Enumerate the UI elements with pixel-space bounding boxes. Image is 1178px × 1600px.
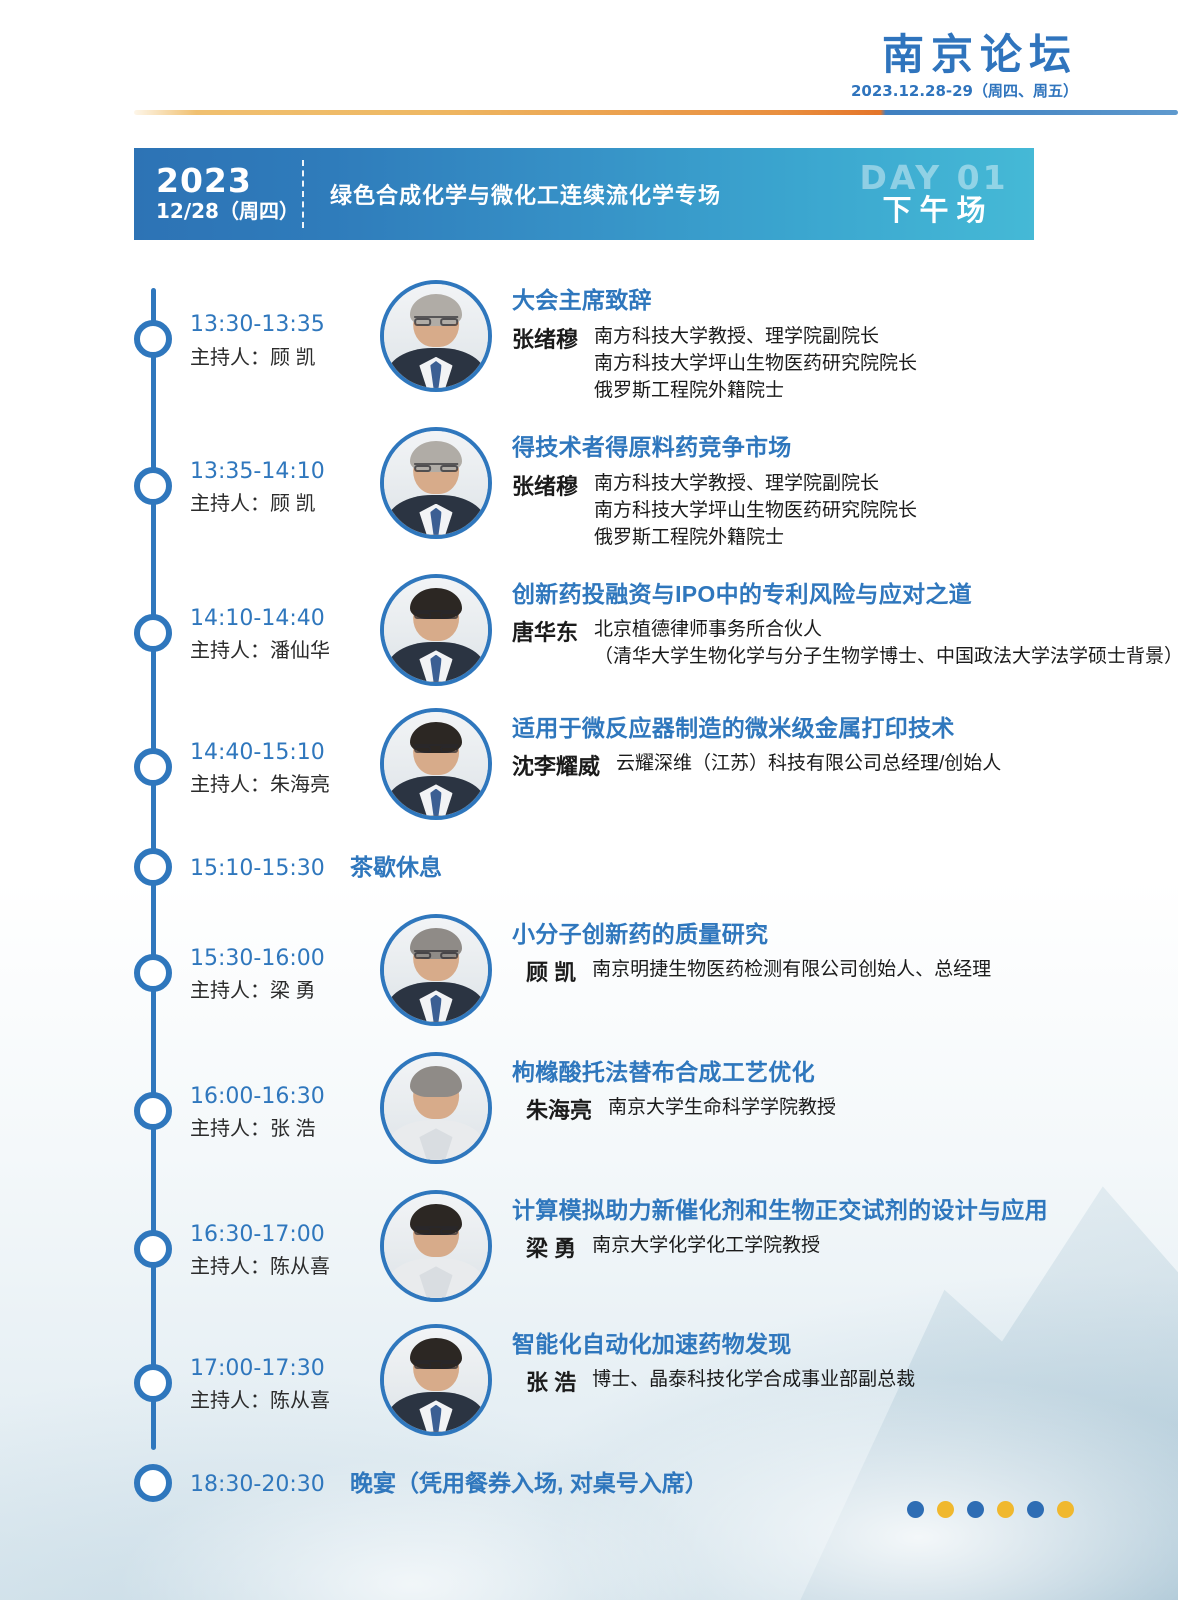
agenda-affiliations: 南方科技大学教授、理学院副院长南方科技大学坪山生物医药研究院院长俄罗斯工程院外籍… bbox=[594, 471, 1178, 552]
agenda-speaker-line: 唐华东北京植德律师事务所合伙人（清华大学生物化学与分子生物学博士、中国政法大学法… bbox=[512, 617, 1178, 671]
footer-dot bbox=[1057, 1501, 1074, 1518]
footer-dot bbox=[997, 1501, 1014, 1518]
timeline-marker bbox=[134, 954, 172, 992]
banner-date-block: 2023 12/28（周四） bbox=[134, 148, 302, 240]
agenda-affiliations: 南方科技大学教授、理学院副院长南方科技大学坪山生物医药研究院院长俄罗斯工程院外籍… bbox=[594, 324, 1178, 405]
brand-block: 南京论坛 2023.12.28-29（周四、周五） bbox=[851, 34, 1078, 99]
speaker-avatar bbox=[380, 574, 492, 686]
agenda-time-column: 13:30-13:35主持人：顾 凯 bbox=[190, 280, 380, 373]
agenda-row: 16:00-16:30主持人：张 浩枸橼酸托法替布合成工艺优化朱海亮南京大学生命… bbox=[0, 1052, 1178, 1164]
agenda-row: 15:30-16:00主持人：梁 勇小分子创新药的质量研究顾 凯南京明捷生物医药… bbox=[0, 914, 1178, 1026]
timeline-marker bbox=[134, 467, 172, 505]
agenda-affiliations: 南京大学化学化工学院教授 bbox=[592, 1233, 1178, 1260]
agenda-talk: 得技术者得原料药竞争市场张绪穆南方科技大学教授、理学院副院长南方科技大学坪山生物… bbox=[512, 427, 1178, 552]
agenda-talk-title: 枸橼酸托法替布合成工艺优化 bbox=[512, 1058, 1178, 1088]
header-rule bbox=[134, 110, 1178, 115]
agenda-speaker-name: 朱海亮 bbox=[512, 1095, 608, 1127]
agenda-row: 17:00-17:30主持人：陈从喜智能化自动化加速药物发现张 浩博士、晶泰科技… bbox=[0, 1324, 1178, 1436]
footer-dot bbox=[907, 1501, 924, 1518]
agenda-speaker-line: 朱海亮南京大学生命科学学院教授 bbox=[512, 1095, 1178, 1127]
agenda-time-column: 14:40-15:10主持人：朱海亮 bbox=[190, 708, 380, 801]
agenda-affiliation: 南方科技大学坪山生物医药研究院院长 bbox=[594, 498, 1178, 525]
agenda-affiliation: 北京植德律师事务所合伙人 bbox=[594, 617, 1178, 644]
agenda-row: 13:30-13:35主持人：顾 凯大会主席致辞张绪穆南方科技大学教授、理学院副… bbox=[0, 280, 1178, 405]
agenda-time: 14:10-14:40 bbox=[190, 604, 380, 634]
agenda-talk: 大会主席致辞张绪穆南方科技大学教授、理学院副院长南方科技大学坪山生物医药研究院院… bbox=[512, 280, 1178, 405]
agenda-time-column: 17:00-17:30主持人：陈从喜 bbox=[190, 1324, 380, 1417]
agenda-time: 14:40-15:10 bbox=[190, 738, 380, 768]
agenda-affiliations: 博士、晶泰科技化学合成事业部副总裁 bbox=[592, 1367, 1178, 1394]
avatar-glasses bbox=[414, 316, 458, 325]
avatar-glasses bbox=[414, 744, 458, 753]
agenda-talk-title: 适用于微反应器制造的微米级金属打印技术 bbox=[512, 714, 1178, 744]
speaker-avatar bbox=[380, 1052, 492, 1164]
agenda-host: 主持人：张 浩 bbox=[190, 1115, 380, 1144]
agenda-speaker-name: 顾 凯 bbox=[512, 957, 592, 989]
agenda-host: 主持人：潘仙华 bbox=[190, 637, 380, 666]
speaker-avatar bbox=[380, 1190, 492, 1302]
timeline-marker bbox=[134, 1364, 172, 1402]
agenda-speaker-name: 张绪穆 bbox=[512, 324, 594, 356]
agenda-time: 13:30-13:35 bbox=[190, 310, 380, 340]
agenda-talk-title: 小分子创新药的质量研究 bbox=[512, 920, 1178, 950]
agenda-host: 主持人：陈从喜 bbox=[190, 1387, 380, 1416]
agenda-simple-title: 茶歇休息 bbox=[350, 853, 442, 883]
agenda-talk-title: 大会主席致辞 bbox=[512, 286, 1178, 316]
agenda-affiliation: 南方科技大学坪山生物医药研究院院长 bbox=[594, 351, 1178, 378]
agenda-time: 16:30-17:00 bbox=[190, 1220, 380, 1250]
agenda-list: 13:30-13:35主持人：顾 凯大会主席致辞张绪穆南方科技大学教授、理学院副… bbox=[0, 280, 1178, 1506]
timeline-marker bbox=[134, 1464, 172, 1502]
agenda-affiliation: 俄罗斯工程院外籍院士 bbox=[594, 378, 1178, 405]
agenda-host: 主持人：朱海亮 bbox=[190, 771, 380, 800]
banner-day: 12/28（周四） bbox=[156, 198, 302, 224]
agenda-affiliation: 俄罗斯工程院外籍院士 bbox=[594, 525, 1178, 552]
agenda-time-column: 16:00-16:30主持人：张 浩 bbox=[190, 1052, 380, 1145]
agenda-host: 主持人：梁 勇 bbox=[190, 977, 380, 1006]
agenda-affiliations: 云耀深维（江苏）科技有限公司总经理/创始人 bbox=[616, 751, 1178, 778]
agenda-speaker-line: 梁 勇南京大学化学化工学院教授 bbox=[512, 1233, 1178, 1265]
timeline-marker bbox=[134, 1230, 172, 1268]
agenda-affiliation: （清华大学生物化学与分子生物学博士、中国政法大学法学硕士背景） bbox=[594, 644, 1178, 671]
brand-title: 南京论坛 bbox=[851, 34, 1078, 76]
agenda-speaker-name: 唐华东 bbox=[512, 617, 594, 649]
agenda-time: 16:00-16:30 bbox=[190, 1082, 380, 1112]
agenda-affiliation: 南京明捷生物医药检测有限公司创始人、总经理 bbox=[592, 957, 1178, 984]
agenda-time-column: 15:30-16:00主持人：梁 勇 bbox=[190, 914, 380, 1007]
speaker-avatar bbox=[380, 427, 492, 539]
avatar-glasses bbox=[414, 1226, 458, 1235]
agenda-speaker-line: 沈李耀威云耀深维（江苏）科技有限公司总经理/创始人 bbox=[512, 751, 1178, 783]
speaker-avatar bbox=[380, 1324, 492, 1436]
agenda-affiliation: 南方科技大学教授、理学院副院长 bbox=[594, 471, 1178, 498]
session-banner: 2023 12/28（周四） 绿色合成化学与微化工连续流化学专场 DAY 01 … bbox=[134, 148, 1034, 240]
footer-dots bbox=[907, 1501, 1074, 1518]
speaker-avatar bbox=[380, 914, 492, 1026]
agenda-host: 主持人：陈从喜 bbox=[190, 1253, 380, 1282]
agenda-time: 13:35-14:10 bbox=[190, 457, 380, 487]
agenda-affiliation: 南京大学化学化工学院教授 bbox=[592, 1233, 1178, 1260]
poster-header: 南京论坛 2023.12.28-29（周四、周五） bbox=[0, 0, 1178, 118]
agenda-talk: 智能化自动化加速药物发现张 浩博士、晶泰科技化学合成事业部副总裁 bbox=[512, 1324, 1178, 1400]
agenda-time-column: 13:35-14:10主持人：顾 凯 bbox=[190, 427, 380, 520]
agenda-affiliations: 南京大学生命科学学院教授 bbox=[608, 1095, 1178, 1122]
agenda-row: 16:30-17:00主持人：陈从喜计算模拟助力新催化剂和生物正交试剂的设计与应… bbox=[0, 1190, 1178, 1302]
agenda-time: 15:10-15:30 bbox=[190, 854, 350, 884]
avatar-glasses bbox=[414, 1360, 458, 1369]
agenda-row: 13:35-14:10主持人：顾 凯得技术者得原料药竞争市场张绪穆南方科技大学教… bbox=[0, 427, 1178, 552]
agenda-affiliation: 博士、晶泰科技化学合成事业部副总裁 bbox=[592, 1367, 1178, 1394]
agenda-speaker-line: 张绪穆南方科技大学教授、理学院副院长南方科技大学坪山生物医药研究院院长俄罗斯工程… bbox=[512, 324, 1178, 405]
speaker-avatar bbox=[380, 708, 492, 820]
timeline-marker bbox=[134, 848, 172, 886]
agenda-host: 主持人：顾 凯 bbox=[190, 490, 380, 519]
footer-dot bbox=[937, 1501, 954, 1518]
avatar-glasses bbox=[414, 610, 458, 619]
agenda-row: 14:40-15:10主持人：朱海亮适用于微反应器制造的微米级金属打印技术沈李耀… bbox=[0, 708, 1178, 820]
agenda-affiliations: 南京明捷生物医药检测有限公司创始人、总经理 bbox=[592, 957, 1178, 984]
timeline-marker bbox=[134, 614, 172, 652]
footer-dot bbox=[1027, 1501, 1044, 1518]
banner-year: 2023 bbox=[156, 164, 302, 199]
agenda-speaker-line: 张绪穆南方科技大学教授、理学院副院长南方科技大学坪山生物医药研究院院长俄罗斯工程… bbox=[512, 471, 1178, 552]
agenda-talk: 小分子创新药的质量研究顾 凯南京明捷生物医药检测有限公司创始人、总经理 bbox=[512, 914, 1178, 990]
speaker-avatar bbox=[380, 280, 492, 392]
agenda-speaker-line: 顾 凯南京明捷生物医药检测有限公司创始人、总经理 bbox=[512, 957, 1178, 989]
agenda-talk-title: 创新药投融资与IPO中的专利风险与应对之道 bbox=[512, 580, 1178, 610]
agenda-talk: 创新药投融资与IPO中的专利风险与应对之道唐华东北京植德律师事务所合伙人（清华大… bbox=[512, 574, 1178, 672]
banner-slot: 下午场 bbox=[874, 196, 993, 228]
avatar-glasses bbox=[414, 950, 458, 959]
agenda-talk-title: 智能化自动化加速药物发现 bbox=[512, 1330, 1178, 1360]
agenda-timeline: 13:30-13:35主持人：顾 凯大会主席致辞张绪穆南方科技大学教授、理学院副… bbox=[0, 280, 1178, 1450]
brand-date: 2023.12.28-29（周四、周五） bbox=[851, 84, 1078, 99]
timeline-marker bbox=[134, 748, 172, 786]
agenda-affiliation: 云耀深维（江苏）科技有限公司总经理/创始人 bbox=[616, 751, 1178, 778]
timeline-marker bbox=[134, 1092, 172, 1130]
agenda-talk: 适用于微反应器制造的微米级金属打印技术沈李耀威云耀深维（江苏）科技有限公司总经理… bbox=[512, 708, 1178, 784]
agenda-time-column: 18:30-20:30 bbox=[190, 1468, 350, 1500]
agenda-row: 14:10-14:40主持人：潘仙华创新药投融资与IPO中的专利风险与应对之道唐… bbox=[0, 574, 1178, 686]
agenda-simple-title: 晚宴（凭用餐券入场, 对桌号入席） bbox=[350, 1469, 708, 1499]
agenda-time-column: 15:10-15:30 bbox=[190, 852, 350, 884]
agenda-time: 17:00-17:30 bbox=[190, 1354, 380, 1384]
agenda-talk-title: 计算模拟助力新催化剂和生物正交试剂的设计与应用 bbox=[512, 1196, 1178, 1226]
banner-day-block: DAY 01 下午场 bbox=[844, 148, 1034, 240]
agenda-time: 18:30-20:30 bbox=[190, 1470, 350, 1500]
agenda-speaker-name: 张 浩 bbox=[512, 1367, 592, 1399]
agenda-talk: 计算模拟助力新催化剂和生物正交试剂的设计与应用梁 勇南京大学化学化工学院教授 bbox=[512, 1190, 1178, 1266]
agenda-row-simple: 15:10-15:30茶歇休息 bbox=[0, 846, 1178, 890]
agenda-talk-title: 得技术者得原料药竞争市场 bbox=[512, 433, 1178, 463]
timeline-marker bbox=[134, 320, 172, 358]
agenda-host: 主持人：顾 凯 bbox=[190, 344, 380, 373]
agenda-time-column: 16:30-17:00主持人：陈从喜 bbox=[190, 1190, 380, 1283]
agenda-speaker-name: 沈李耀威 bbox=[512, 751, 616, 783]
agenda-time-column: 14:10-14:40主持人：潘仙华 bbox=[190, 574, 380, 667]
agenda-time: 15:30-16:00 bbox=[190, 944, 380, 974]
avatar-glasses bbox=[414, 463, 458, 472]
agenda-affiliation: 南方科技大学教授、理学院副院长 bbox=[594, 324, 1178, 351]
agenda-speaker-line: 张 浩博士、晶泰科技化学合成事业部副总裁 bbox=[512, 1367, 1178, 1399]
agenda-speaker-name: 梁 勇 bbox=[512, 1233, 592, 1265]
banner-day-number: DAY 01 bbox=[859, 161, 1008, 194]
footer-dot bbox=[967, 1501, 984, 1518]
agenda-talk: 枸橼酸托法替布合成工艺优化朱海亮南京大学生命科学学院教授 bbox=[512, 1052, 1178, 1128]
banner-topic: 绿色合成化学与微化工连续流化学专场 bbox=[304, 148, 844, 240]
agenda-speaker-name: 张绪穆 bbox=[512, 471, 594, 503]
agenda-affiliation: 南京大学生命科学学院教授 bbox=[608, 1095, 1178, 1122]
agenda-affiliations: 北京植德律师事务所合伙人（清华大学生物化学与分子生物学博士、中国政法大学法学硕士… bbox=[594, 617, 1178, 671]
agenda-row-simple: 18:30-20:30晚宴（凭用餐券入场, 对桌号入席） bbox=[0, 1462, 1178, 1506]
